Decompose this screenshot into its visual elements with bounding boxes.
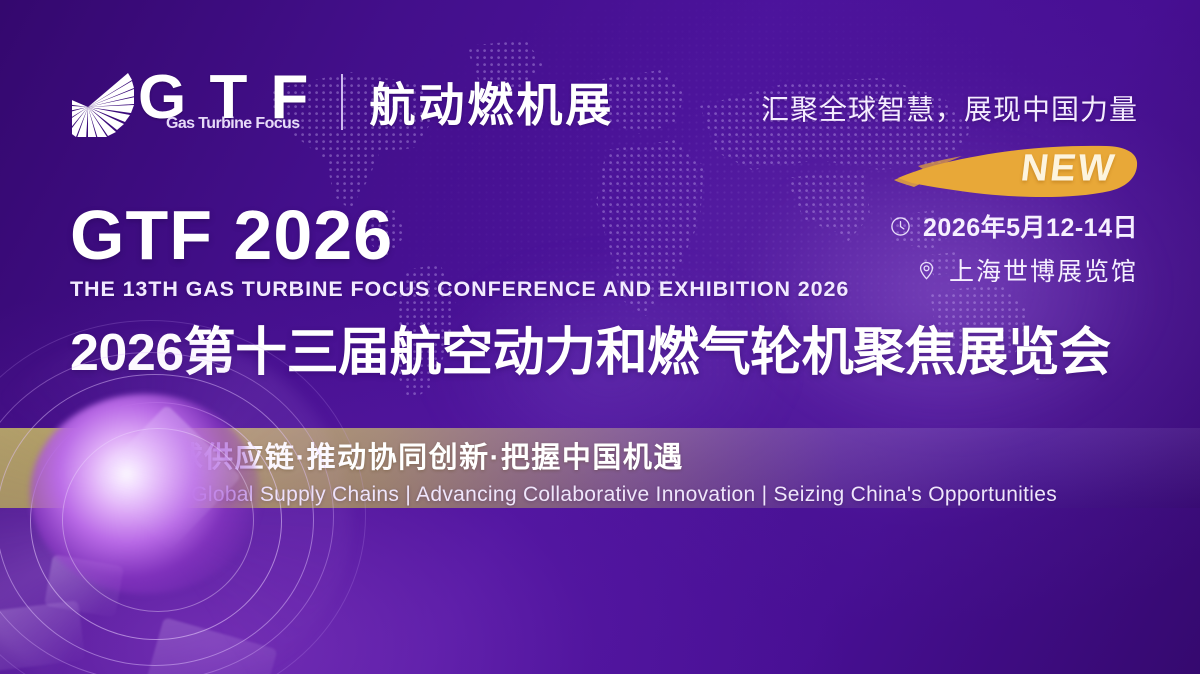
turbine-blade-2	[44, 554, 124, 618]
new-badge-label: NEW	[1019, 148, 1119, 191]
headline-block: GTF 2026 THE 13TH GAS TURBINE FOCUS CONF…	[70, 200, 1111, 385]
top-right-slogan: 汇聚全球智慧，展现中国力量	[761, 88, 1138, 128]
brand-chinese-name: 航动燃机展	[369, 69, 614, 135]
turbine-ring-2	[0, 374, 314, 666]
tagline-english: Reshaping Global Supply Chains | Advanci…	[82, 483, 1057, 507]
english-subtitle: THE 13TH GAS TURBINE FOCUS CONFERENCE AN…	[70, 277, 1111, 302]
brand-header: G T F Gas Turbine Focus 航动燃机展	[72, 60, 614, 144]
turbine-blade-3	[0, 600, 85, 671]
new-badge: NEW	[892, 138, 1142, 202]
turbine-blade-4	[144, 617, 277, 674]
gtf-logo-lockup: G T F Gas Turbine Focus	[138, 65, 311, 139]
gtf-logo-subtitle: Gas Turbine Focus	[166, 115, 300, 133]
page-title: GTF 2026	[70, 200, 1111, 271]
turbine-fan-icon	[72, 67, 134, 137]
turbine-ring-1	[0, 352, 334, 674]
turbine-glow-graphic	[0, 364, 390, 674]
tagline-block: 重构全球供应链·推动协同创新·把握中国机遇 Reshaping Global S…	[82, 434, 1057, 507]
logo-divider	[341, 74, 343, 130]
tagline-chinese: 重构全球供应链·推动协同创新·把握中国机遇	[82, 434, 1057, 476]
event-promo-banner: G T F Gas Turbine Focus 航动燃机展 汇聚全球智慧，展现中…	[0, 0, 1200, 674]
chinese-title: 2026第十三届航空动力和燃气轮机聚焦展览会	[70, 310, 1111, 385]
